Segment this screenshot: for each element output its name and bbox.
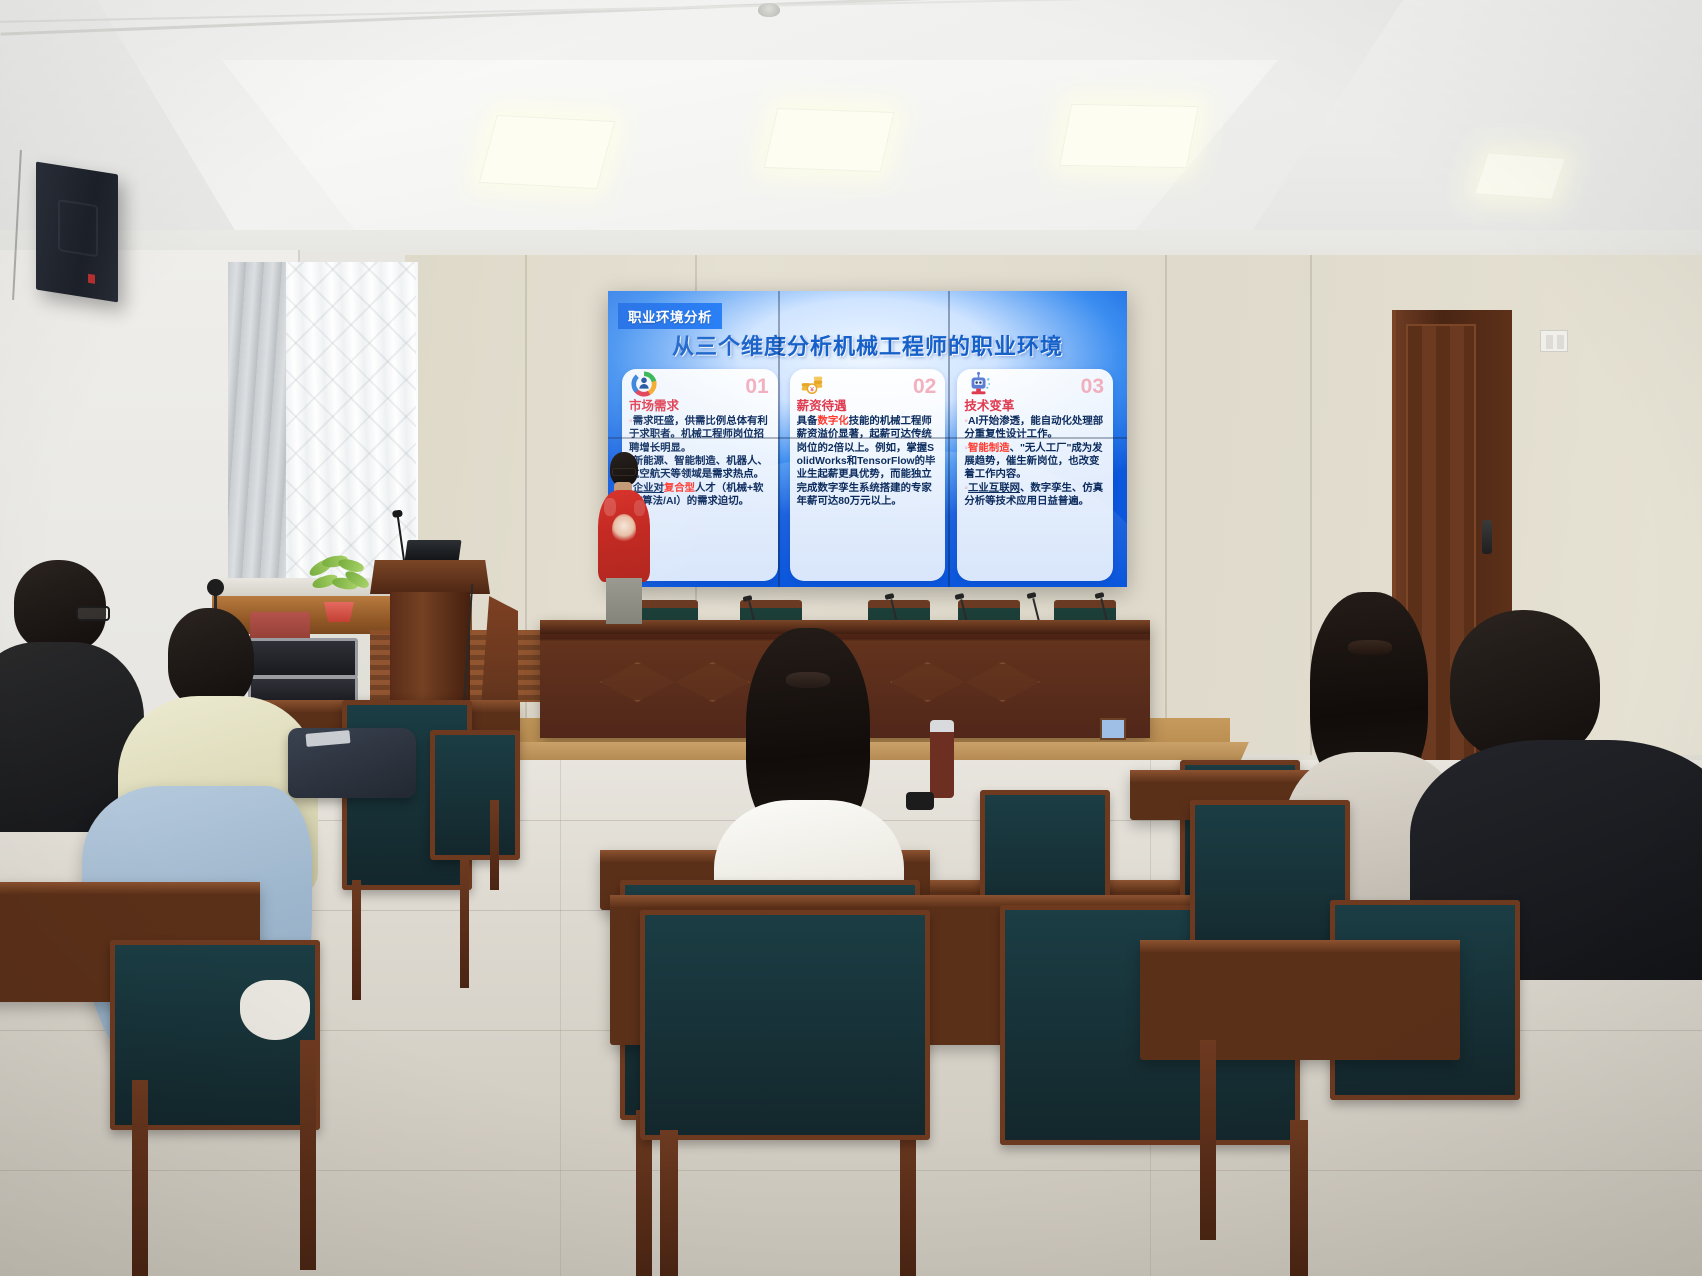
market-demand-icon [631, 371, 657, 397]
panel-seam [1165, 255, 1167, 755]
panel-light-icon [1474, 152, 1566, 200]
presenter [596, 452, 652, 627]
hair-tie [1348, 640, 1392, 655]
glasses-icon [76, 606, 110, 621]
salary-coins-icon: ¥ [799, 371, 825, 397]
smoke-detector-icon [758, 3, 780, 17]
slide-title: 从三个维度分析机械工程师的职业环境 [608, 329, 1127, 361]
slide-cards-row: 01 市场需求 ◦需求旺盛，供需比例总体有利于求职者。机械工程师岗位招聘增长明显… [622, 369, 1113, 581]
led-panel-seam [948, 291, 950, 587]
slide-card: 03 技术变革 ◦AI开始渗透，能自动化处理部分重复性设计工作。 ◦智能制造、"… [957, 369, 1113, 581]
speaker-led [88, 274, 95, 284]
attendee-right-man [1430, 610, 1702, 950]
cup-lid [906, 792, 934, 810]
sweater-graphic [612, 514, 636, 544]
presenter-trousers [606, 578, 642, 624]
wall-speaker-icon [36, 162, 118, 303]
led-video-wall[interactable]: 职业环境分析 从三个维度分析机械工程师的职业环境 01 市场需求 [608, 291, 1127, 587]
audience-desk [1140, 940, 1460, 1060]
presenter-red-sweater [598, 490, 650, 582]
led-panel-seam [778, 291, 780, 587]
led-panel-seam [608, 437, 1127, 439]
audience-chair[interactable] [430, 730, 520, 860]
slide-header-label: 职业环境分析 [618, 303, 722, 329]
plant-pot [324, 602, 354, 622]
panel-light-icon [1059, 104, 1199, 168]
card-number: 02 [913, 375, 936, 399]
light-switch-icon[interactable] [1540, 330, 1568, 352]
name-card-holder [1100, 718, 1126, 740]
attendee-head [1450, 610, 1600, 760]
attendee-left-back [0, 560, 130, 820]
attendee-head [168, 608, 254, 708]
thermos-bottle [930, 720, 954, 798]
window [228, 262, 418, 592]
robot-tech-icon [966, 371, 992, 397]
card-body: ◦AI开始渗透，能自动化处理部分重复性设计工作。 ◦智能制造、"无人工厂"成为发… [964, 415, 1106, 508]
door-handle-icon[interactable] [1482, 520, 1492, 554]
card-number: 01 [745, 375, 768, 399]
laptop-icon[interactable] [404, 540, 461, 562]
table-panel-decor [890, 662, 1040, 702]
conference-room-photo: 职业环境分析 从三个维度分析机械工程师的职业环境 01 市场需求 [0, 0, 1702, 1276]
glasses-icon [612, 468, 636, 476]
hair-tie [786, 672, 830, 688]
audience-chair[interactable] [640, 910, 930, 1140]
curtain-pattern [286, 262, 416, 592]
panel-light-icon [764, 108, 895, 172]
card-body: 具备数字化技能的机械工程师薪资溢价显著，起薪可达传统岗位的2倍以上。例如，掌握S… [797, 415, 939, 508]
slide-card: ¥ 02 薪资待遇 具备数字化技能的机械工程师薪资溢价显著，起薪可达传统岗位的2… [790, 369, 946, 581]
potted-plant-icon [308, 556, 370, 614]
card-number: 03 [1081, 375, 1104, 399]
panel-light-icon [479, 115, 616, 189]
speaker-cone [58, 199, 98, 257]
grey-curtain [228, 262, 286, 592]
svg-text:¥: ¥ [810, 386, 814, 393]
shoe [240, 980, 310, 1040]
